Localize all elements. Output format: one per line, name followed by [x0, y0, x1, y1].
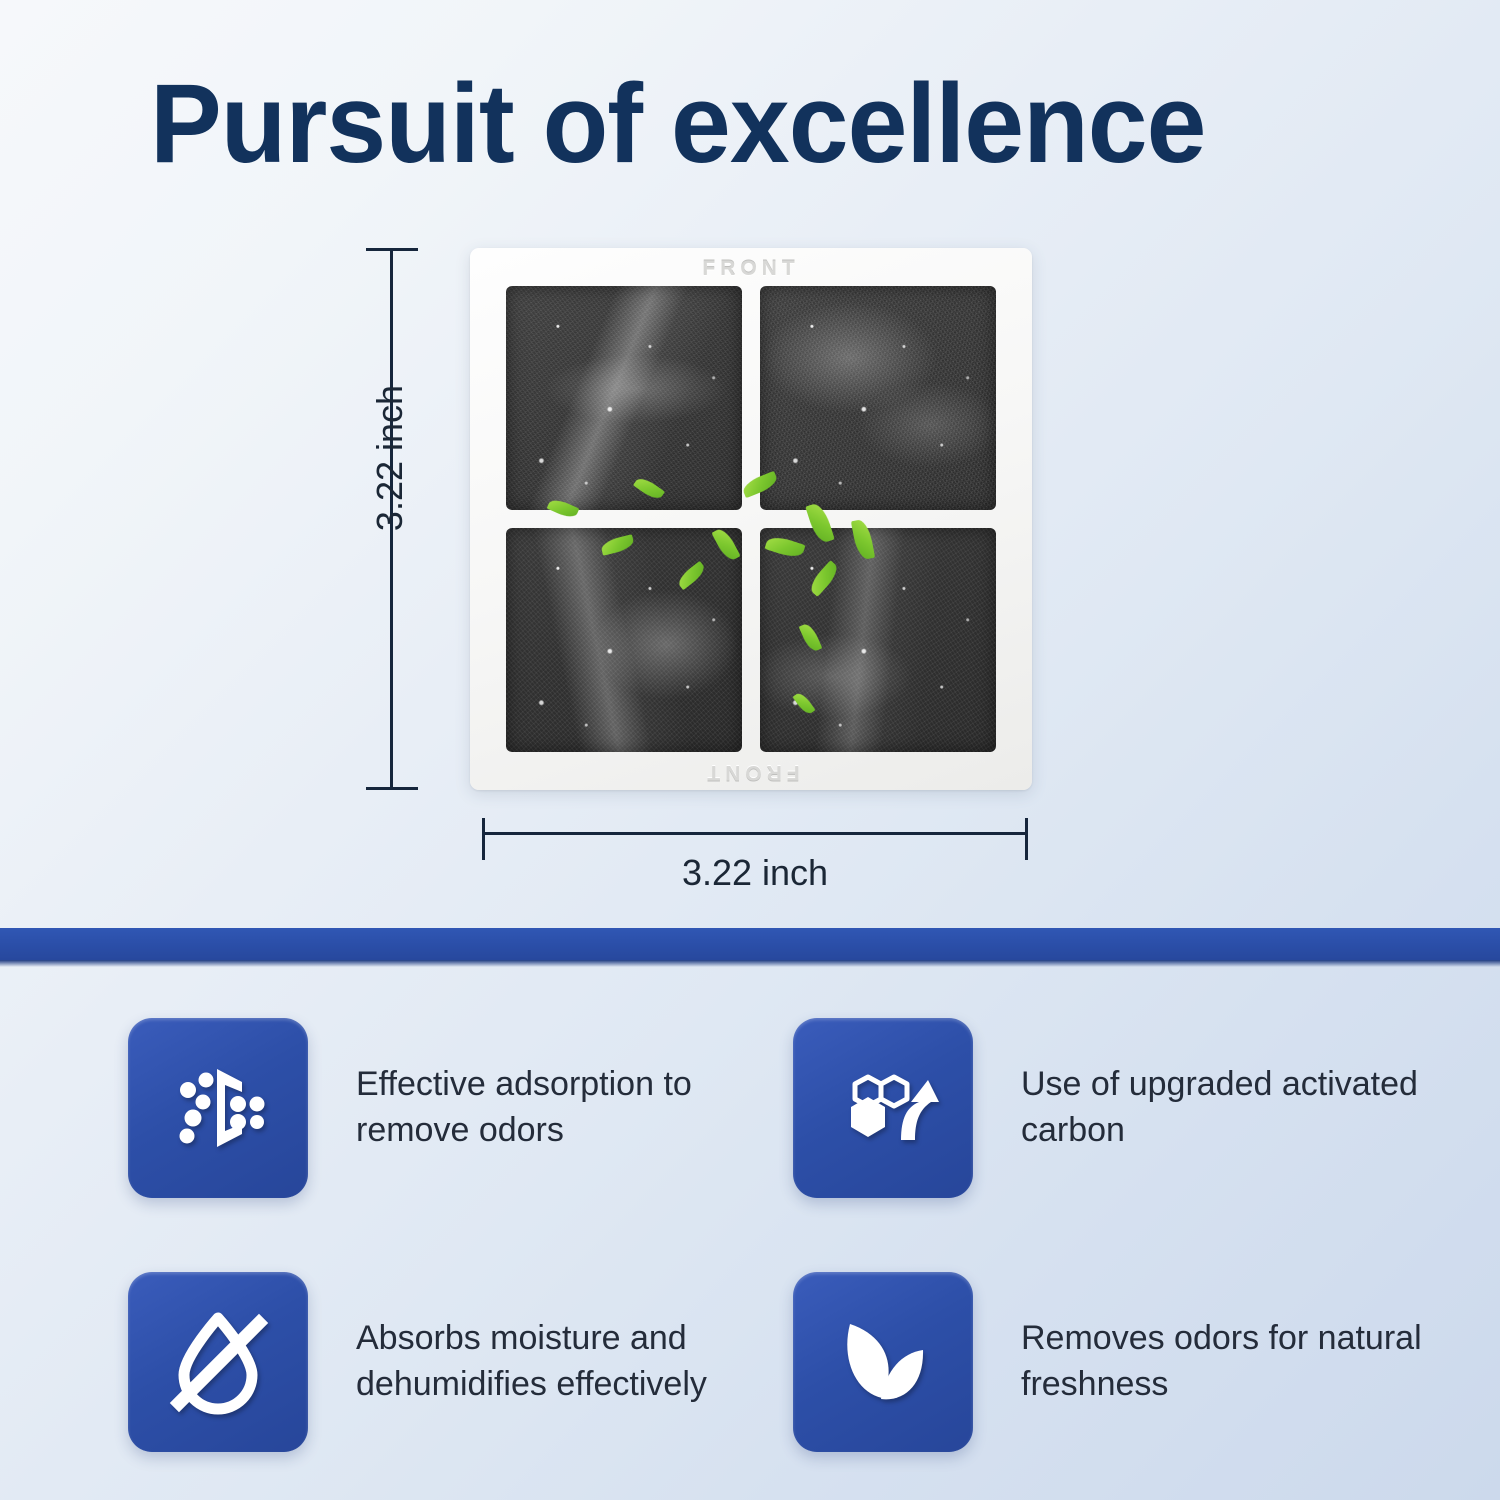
feature-list: Effective adsorption to remove odors Use… — [0, 1000, 1500, 1470]
feature-item-freshness: Removes odors for natural freshness — [793, 1254, 1458, 1470]
width-dimension-line — [482, 832, 1028, 835]
carbon-panel-bottom-right — [760, 528, 996, 752]
front-label-top: FRONT — [470, 257, 1032, 281]
section-divider — [0, 920, 1500, 968]
leaves-icon — [827, 1306, 939, 1418]
carbon-panel-top-right — [760, 286, 996, 510]
adsorption-membrane-icon — [162, 1052, 274, 1164]
air-filter-product-image: FRONT FRONT — [470, 248, 1032, 790]
feature-item-moisture: Absorbs moisture and dehumidifies effect… — [128, 1254, 793, 1470]
feature-icon-tile — [128, 1018, 308, 1198]
carbon-panel-bottom-left — [506, 528, 742, 752]
height-dimension-cap-bottom — [366, 787, 418, 790]
height-dimension-label: 3.22 inch — [369, 373, 411, 543]
feature-label: Effective adsorption to remove odors — [356, 1062, 786, 1153]
width-dimension-label: 3.22 inch — [482, 852, 1028, 894]
feature-label: Absorbs moisture and dehumidifies effect… — [356, 1316, 786, 1407]
feature-icon-tile — [793, 1272, 973, 1452]
hero-section: Pursuit of excellence 3.22 inch 3.22 inc… — [0, 0, 1500, 922]
feature-label: Removes odors for natural freshness — [1021, 1316, 1451, 1407]
divider-bar — [0, 928, 1500, 960]
feature-item-activated-carbon: Use of upgraded activated carbon — [793, 1000, 1458, 1216]
page-title: Pursuit of excellence — [150, 68, 1321, 180]
feature-label: Use of upgraded activated carbon — [1021, 1062, 1451, 1153]
no-moisture-droplet-icon — [162, 1306, 274, 1418]
front-label-bottom: FRONT — [470, 760, 1032, 784]
feature-icon-tile — [793, 1018, 973, 1198]
carbon-panel-top-left — [506, 286, 742, 510]
feature-item-adsorption: Effective adsorption to remove odors — [128, 1000, 793, 1216]
divider-shadow — [0, 960, 1500, 967]
infographic-page: Pursuit of excellence 3.22 inch 3.22 inc… — [0, 0, 1500, 1500]
feature-icon-tile — [128, 1272, 308, 1452]
hexagon-carbon-arrow-icon — [827, 1052, 939, 1164]
carbon-panel-grid — [506, 286, 996, 752]
height-dimension-cap-top — [366, 248, 418, 251]
